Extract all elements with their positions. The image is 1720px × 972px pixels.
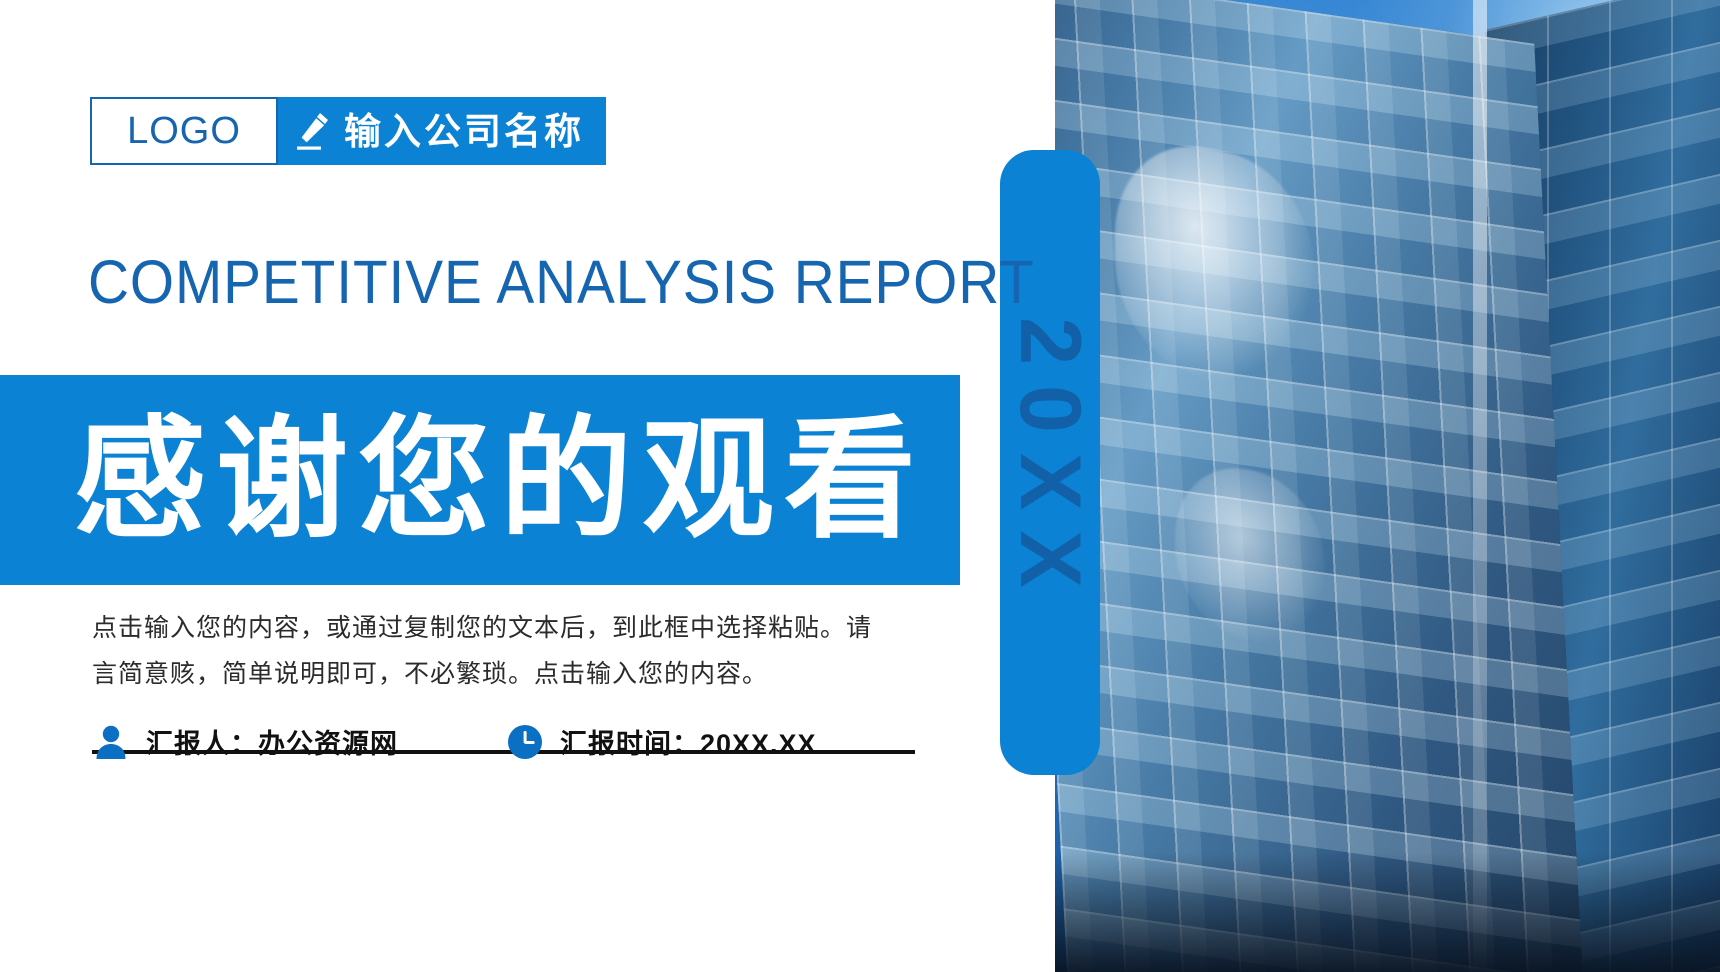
- company-name-bar[interactable]: 输入公司名称: [278, 97, 606, 165]
- presenter-label: 汇报人：办公资源网: [146, 722, 398, 761]
- chinese-title: 感谢您的观看: [0, 375, 960, 585]
- pencil-icon: [294, 111, 330, 151]
- shadow-base: [1055, 852, 1720, 972]
- footer-spacer: [398, 741, 506, 742]
- body-line-1: 点击输入您的内容，或通过复制您的文本后，到此框中选择粘贴。请: [92, 605, 922, 651]
- facade-window-grid: [1055, 0, 1590, 972]
- logo-label: LOGO: [127, 112, 241, 150]
- header-logo-row: LOGO 输入公司名称: [90, 97, 606, 165]
- company-name-label: 输入公司名称: [344, 113, 584, 150]
- presentation-slide: 20XX LOGO 输入公司名称 COMPETITIVE ANALYSIS RE…: [0, 0, 1720, 972]
- body-paragraph[interactable]: 点击输入您的内容，或通过复制您的文本后，到此框中选择粘贴。请 言简意赅，简单说明…: [92, 605, 922, 697]
- body-line-2: 言简意赅，简单说明即可，不必繁琐。点击输入您的内容。: [92, 651, 922, 697]
- clock-icon: [506, 723, 544, 761]
- person-icon: [92, 723, 130, 761]
- presenter-item[interactable]: 汇报人：办公资源网: [92, 722, 398, 761]
- footer-row: 汇报人：办公资源网 汇报时间：20XX.XX: [92, 722, 817, 761]
- building-facade: [1055, 0, 1590, 972]
- date-label: 汇报时间：20XX.XX: [560, 722, 817, 761]
- date-item[interactable]: 汇报时间：20XX.XX: [506, 722, 817, 761]
- year-badge-label: 20XX: [1000, 150, 1100, 775]
- logo-box[interactable]: LOGO: [90, 97, 278, 165]
- building-corner-edge: [1473, 0, 1487, 972]
- english-title: COMPETITIVE ANALYSIS REPORT: [88, 252, 1035, 313]
- building-photo: [1055, 0, 1720, 972]
